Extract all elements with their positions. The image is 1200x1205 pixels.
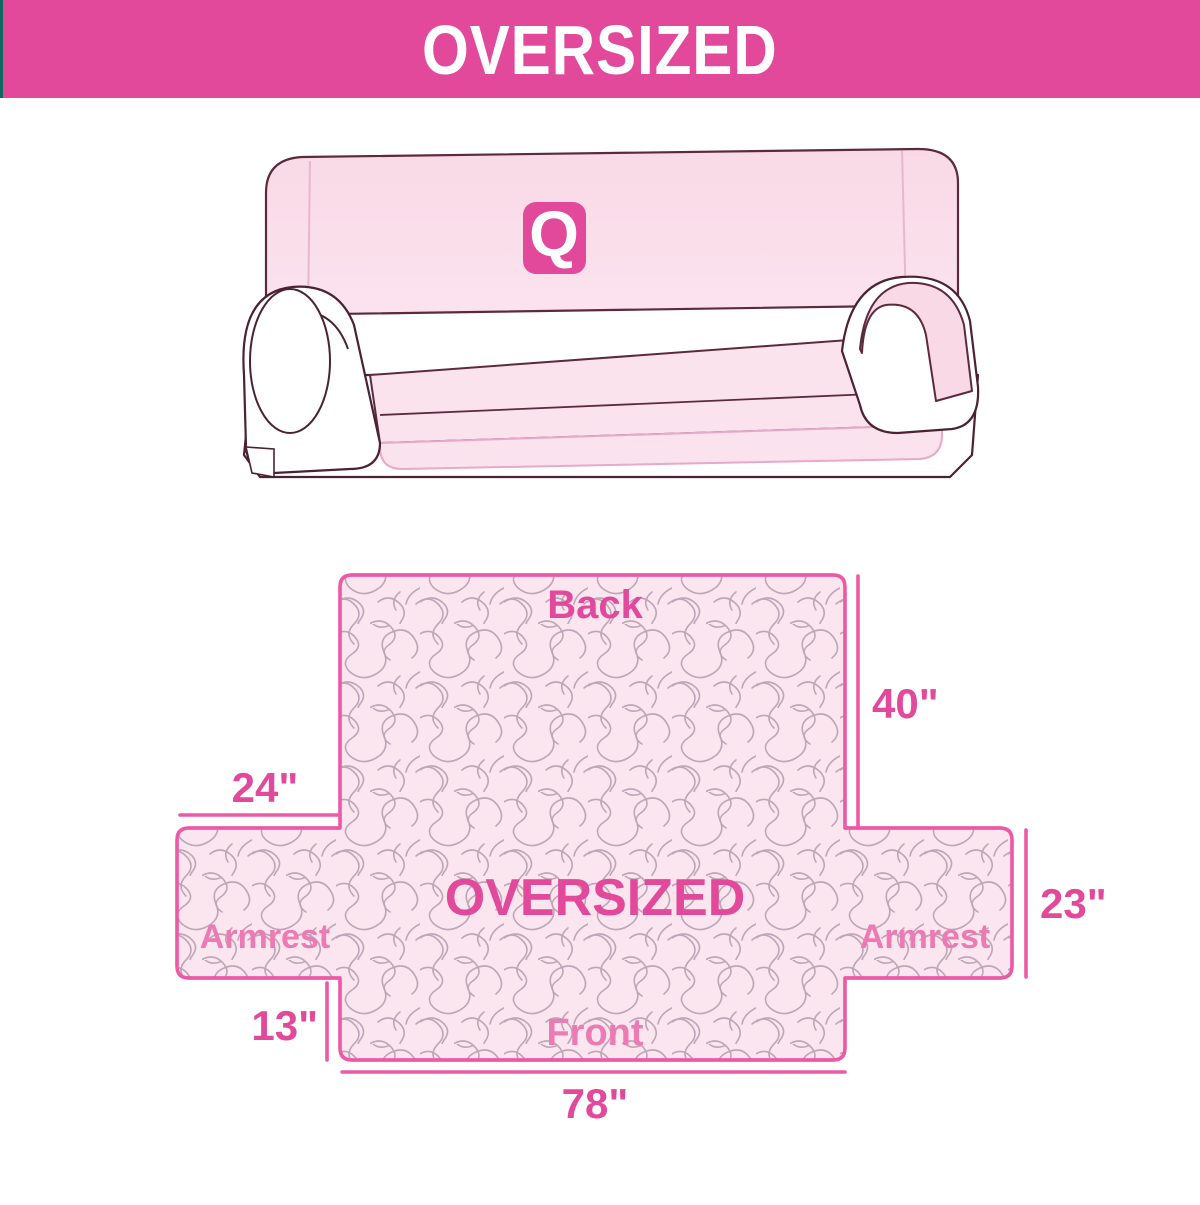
dimension-front-skirt: 13" — [251, 983, 327, 1060]
panel-label-armrest-right: Armrest — [860, 918, 990, 956]
sofa-drawing: Q — [230, 125, 990, 525]
slipcover-flat-shape — [170, 570, 1020, 1070]
dim-label-40: 40" — [872, 680, 939, 727]
panel-label-back: Back — [547, 583, 643, 627]
panel-label-front: Front — [546, 1012, 643, 1054]
dim-label-23: 23" — [1040, 880, 1107, 927]
dimension-armrest-width: 24" — [180, 764, 340, 815]
brand-logo: Q — [523, 198, 586, 274]
header-edge-strip — [0, 0, 3, 98]
armrest-left-inner — [250, 289, 330, 433]
logo-letter: Q — [529, 198, 579, 270]
quilt-texture-overlay — [170, 570, 1020, 1070]
dim-label-13: 13" — [251, 1002, 318, 1049]
sofa-backrest-cover — [266, 149, 958, 315]
dim-label-24: 24" — [232, 764, 299, 811]
center-label-oversized: OVERSIZED — [445, 869, 746, 927]
header-banner: OVERSIZED — [0, 0, 1200, 98]
flat-pattern-svg: Back Armrest Armrest Front OVERSIZED 40"… — [0, 540, 1200, 1200]
page-title: OVERSIZED — [422, 15, 778, 85]
dimension-total-width: 78" — [342, 1072, 845, 1127]
dimension-armrest-depth: 23" — [1026, 830, 1107, 977]
dimension-back-height: 40" — [858, 576, 939, 828]
pattern-diagram: Back Armrest Armrest Front OVERSIZED 40"… — [0, 540, 1200, 1200]
arm-front-face-left — [246, 447, 274, 477]
panel-label-armrest-left: Armrest — [200, 918, 330, 956]
sofa-illustration: Q — [230, 125, 990, 525]
dim-label-78: 78" — [562, 1080, 629, 1127]
